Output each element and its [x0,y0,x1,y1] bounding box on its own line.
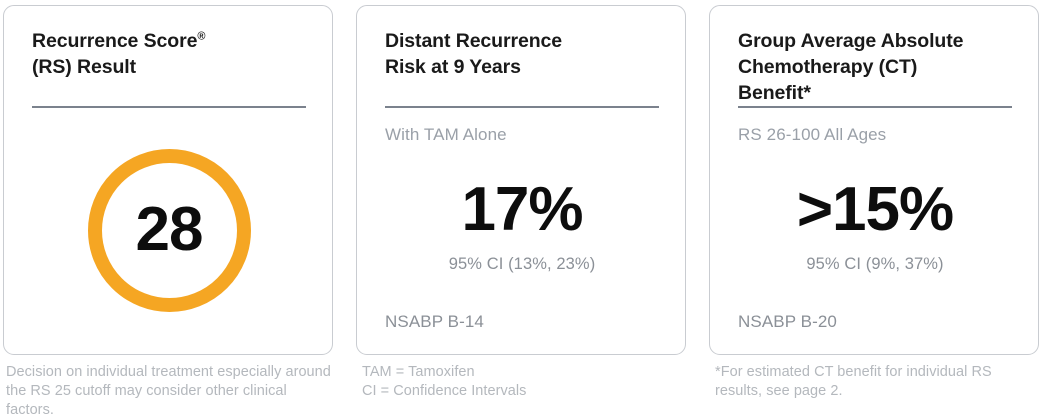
chemotherapy-benefit-value: >15% [797,179,953,241]
card-title-line1: Distant Recurrence [385,30,562,52]
card-recurrence-score: Recurrence Score®(RS) Result 28 [3,5,333,355]
study-label-distant-recurrence-risk: NSABP B-14 [385,312,659,354]
card-divider-distant-recurrence-risk [385,106,659,108]
card-chemotherapy-benefit: Group Average AbsoluteChemotherapy (CT) … [709,5,1039,355]
panel-recurrence-score: Recurrence Score®(RS) Result 28 Decision… [3,5,333,420]
card-title-line2: Risk at 9 Years [385,56,521,78]
recurrence-score-value: 28 [136,199,203,261]
footnote-recurrence-score: Decision on individual treatment especia… [3,355,333,420]
card-title-distant-recurrence-risk: Distant RecurrenceRisk at 9 Years [385,28,659,80]
value-area-chemotherapy-benefit: >15% 95% CI (9%, 37%) [738,146,1012,312]
title-block-recurrence-score: Recurrence Score®(RS) Result [32,28,306,108]
results-card-board: Recurrence Score®(RS) Result 28 Decision… [0,0,1053,406]
card-title-line2: Chemotherapy (CT) Benefit* [738,56,917,104]
card-distant-recurrence-risk: Distant RecurrenceRisk at 9 Years With T… [356,5,686,355]
panel-chemotherapy-benefit: Group Average AbsoluteChemotherapy (CT) … [709,5,1039,401]
footnote-distant-recurrence-risk: TAM = Tamoxifen CI = Confidence Interval… [356,355,686,401]
recurrence-score-ring: 28 [88,149,251,312]
card-subtitle-chemotherapy-benefit: RS 26-100 All Ages [738,124,1012,146]
study-label-chemotherapy-benefit: NSABP B-20 [738,312,1012,354]
value-area-recurrence-score: 28 [32,108,306,354]
value-area-distant-recurrence-risk: 17% 95% CI (13%, 23%) [385,146,659,312]
title-block-chemotherapy-benefit: Group Average AbsoluteChemotherapy (CT) … [738,28,1012,108]
panel-distant-recurrence-risk: Distant RecurrenceRisk at 9 Years With T… [356,5,686,401]
card-divider-chemotherapy-benefit [738,106,1012,108]
card-title-line1: Recurrence Score [32,30,197,52]
card-title-recurrence-score: Recurrence Score®(RS) Result [32,28,306,80]
card-title-line1: Group Average Absolute [738,30,963,52]
distant-recurrence-risk-confidence-interval: 95% CI (13%, 23%) [449,255,596,274]
title-block-distant-recurrence-risk: Distant RecurrenceRisk at 9 Years [385,28,659,108]
card-title-chemotherapy-benefit: Group Average AbsoluteChemotherapy (CT) … [738,28,1012,106]
card-title-line2: (RS) Result [32,56,136,78]
registered-trademark-icon: ® [197,31,205,43]
card-subtitle-distant-recurrence-risk: With TAM Alone [385,124,659,146]
footnote-chemotherapy-benefit: *For estimated CT benefit for individual… [709,355,1039,401]
distant-recurrence-risk-value: 17% [461,179,582,241]
chemotherapy-benefit-confidence-interval: 95% CI (9%, 37%) [806,255,943,274]
